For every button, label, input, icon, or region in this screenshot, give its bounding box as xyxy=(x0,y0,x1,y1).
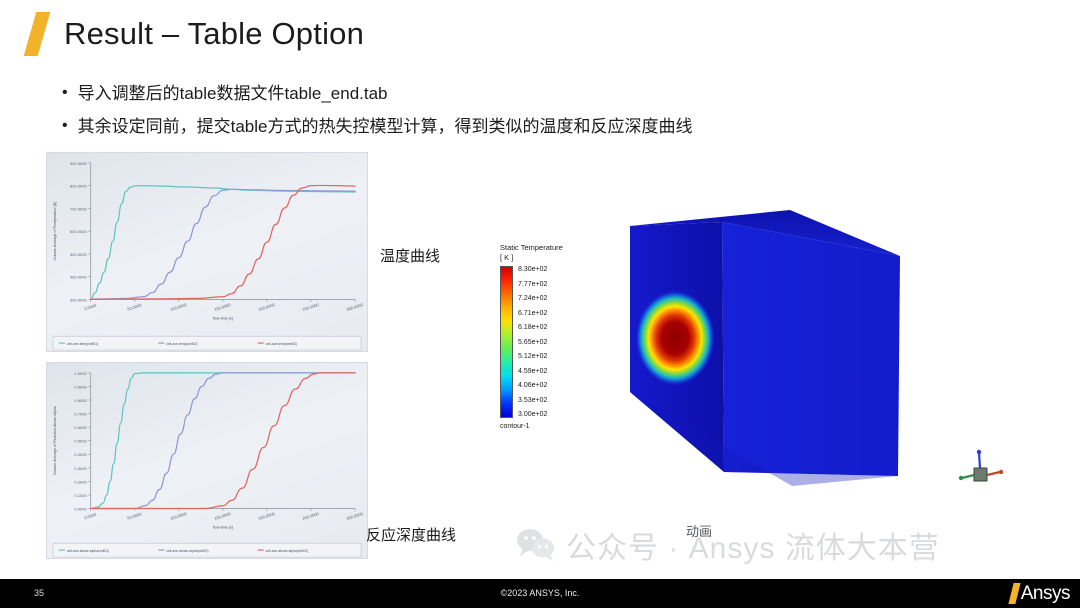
svg-text:100.0000: 100.0000 xyxy=(170,302,188,312)
watermark-overlay-label: 动画 xyxy=(686,521,712,540)
svg-text:400.0000: 400.0000 xyxy=(70,275,88,280)
svg-text:0.4000: 0.4000 xyxy=(74,452,87,457)
svg-text:0.0000: 0.0000 xyxy=(84,302,98,311)
bullet-marker-icon: • xyxy=(62,115,68,137)
svg-text:100.0000: 100.0000 xyxy=(170,511,188,521)
svg-text:flow-time [s]: flow-time [s] xyxy=(213,316,233,320)
svg-text:50.0000: 50.0000 xyxy=(127,511,143,520)
contour-tick-list: 8.30e+027.77e+027.24e+026.71e+026.18e+02… xyxy=(518,266,547,418)
svg-text:50.0000: 50.0000 xyxy=(127,302,143,311)
svg-text:0.9000: 0.9000 xyxy=(74,384,87,389)
svg-text:0.8000: 0.8000 xyxy=(74,398,87,403)
legend-entry-label: cell-ave-temp(cell02) xyxy=(166,342,197,346)
svg-text:0.3000: 0.3000 xyxy=(74,466,87,471)
axis-triad-icon xyxy=(958,448,1004,492)
ansys-logo-slash-icon xyxy=(1008,583,1020,604)
legend-entry-label: cell-ave-temp(cell03) xyxy=(266,342,297,346)
series-line xyxy=(91,186,355,299)
temperature-plot-canvas: 300.0000400.0000500.0000600.0000700.0000… xyxy=(47,153,367,351)
watermark: 公众号 · Ansys 流体大本营 xyxy=(516,523,940,567)
list-item: • 其余设定同前，提交table方式的热失控模型计算，得到类似的温度和反应深度曲… xyxy=(62,115,1022,138)
chart-temperature: 300.0000400.0000500.0000600.0000700.0000… xyxy=(46,152,368,352)
copyright-text: ©2023 ANSYS, Inc. xyxy=(0,588,1080,598)
svg-text:900.0000: 900.0000 xyxy=(70,161,88,166)
svg-text:1.0000: 1.0000 xyxy=(74,371,87,376)
svg-text:200.0000: 200.0000 xyxy=(258,302,276,312)
annotation-temperature-curve: 温度曲线 xyxy=(380,245,440,266)
slide-root: Result – Table Option • 导入调整后的table数据文件t… xyxy=(0,0,1080,608)
contour-legend-units: [ K ] xyxy=(500,253,592,263)
page-title: Result – Table Option xyxy=(30,12,364,56)
contour-tick-label: 8.30e+02 xyxy=(518,266,547,273)
svg-text:500.0000: 500.0000 xyxy=(70,252,88,257)
svg-text:Volume Average of Reaction Abu: Volume Average of Reaction Abuse Alpha xyxy=(53,405,57,475)
cube-front-face xyxy=(722,222,900,476)
bullet-list: • 导入调整后的table数据文件table_end.tab • 其余设定同前，… xyxy=(62,82,1022,148)
contour-tick-label: 4.59e+02 xyxy=(518,368,547,375)
series-line xyxy=(91,189,355,299)
ansys-logo-text: Ansys xyxy=(1021,583,1070,605)
svg-text:200.0000: 200.0000 xyxy=(258,511,276,521)
contour-legend: Static Temperature [ K ] 8.30e+027.77e+0… xyxy=(500,243,592,430)
svg-text:150.0000: 150.0000 xyxy=(214,511,232,521)
contour-tick-label: 6.18e+02 xyxy=(518,324,547,331)
svg-text:600.0000: 600.0000 xyxy=(70,229,88,234)
svg-text:0.5000: 0.5000 xyxy=(74,439,87,444)
contour-tick-label: 3.53e+02 xyxy=(518,397,547,404)
contour-tick-label: 7.24e+02 xyxy=(518,295,547,302)
list-item: • 导入调整后的table数据文件table_end.tab xyxy=(62,82,1022,105)
svg-text:0.0000: 0.0000 xyxy=(84,511,98,520)
title-accent-slash-icon xyxy=(24,12,51,56)
contour-tick-label: 6.71e+02 xyxy=(518,310,547,317)
contour-tick-label: 5.65e+02 xyxy=(518,339,547,346)
svg-text:300.0000: 300.0000 xyxy=(346,302,364,312)
series-line xyxy=(91,373,355,509)
svg-text:flow-time [s]: flow-time [s] xyxy=(213,525,233,529)
watermark-text: 公众号 · Ansys 流体大本营 xyxy=(566,523,940,567)
cube-svg xyxy=(604,186,934,506)
contour-colorbar xyxy=(500,266,513,418)
contour-tick-label: 4.06e+02 xyxy=(518,382,547,389)
bullet-text: 导入调整后的table数据文件table_end.tab xyxy=(78,82,388,105)
contour-legend-caption: contour-1 xyxy=(500,423,592,430)
contour-tick-label: 5.12e+02 xyxy=(518,353,547,360)
wechat-icon xyxy=(516,528,556,562)
contour-tick-label: 7.77e+02 xyxy=(518,281,547,288)
svg-text:0.0000: 0.0000 xyxy=(74,506,87,511)
svg-text:300.0000: 300.0000 xyxy=(346,511,364,521)
legend-entry-label: cell-ave-temp(cell01) xyxy=(67,342,98,346)
title-label: Result – Table Option xyxy=(64,16,364,52)
cube-hotspot xyxy=(635,290,715,386)
legend-entry-label: cell-ave-abuse-alpha(cell03) xyxy=(266,549,308,553)
bullet-marker-icon: • xyxy=(62,82,68,104)
bullet-text: 其余设定同前，提交table方式的热失控模型计算，得到类似的温度和反应深度曲线 xyxy=(78,115,693,138)
contour-tick-label: 3.00e+02 xyxy=(518,411,547,418)
svg-text:Volume Average of Temperature: Volume Average of Temperature [K] xyxy=(53,202,57,261)
series-line xyxy=(91,373,355,509)
svg-text:0.6000: 0.6000 xyxy=(74,425,87,430)
svg-text:300.0000: 300.0000 xyxy=(70,298,88,303)
contour-legend-title: Static Temperature xyxy=(500,243,592,253)
svg-text:800.0000: 800.0000 xyxy=(70,184,88,189)
svg-text:700.0000: 700.0000 xyxy=(70,206,88,211)
series-line xyxy=(91,185,355,299)
svg-text:150.0000: 150.0000 xyxy=(214,302,232,312)
chart-reaction-depth: 0.00000.10000.20000.30000.40000.50000.60… xyxy=(46,362,368,559)
cube-3d-view xyxy=(604,186,934,506)
legend-entry-label: cell-ave-abuse-alpha(cell02) xyxy=(166,549,208,553)
reaction-depth-plot-canvas: 0.00000.10000.20000.30000.40000.50000.60… xyxy=(47,363,367,558)
ansys-logo: Ansys xyxy=(1011,581,1070,606)
svg-text:0.1000: 0.1000 xyxy=(74,493,87,498)
svg-text:250.0000: 250.0000 xyxy=(302,511,320,521)
svg-text:0.2000: 0.2000 xyxy=(74,479,87,484)
annotation-reaction-depth-curve: 反应深度曲线 xyxy=(366,524,456,545)
slide-footer: 35 ©2023 ANSYS, Inc. Ansys xyxy=(0,579,1080,608)
legend-entry-label: cell-ave-abuse-alpha(cell01) xyxy=(67,549,109,553)
svg-text:250.0000: 250.0000 xyxy=(302,302,320,312)
svg-text:0.7000: 0.7000 xyxy=(74,412,87,417)
series-line xyxy=(91,373,355,509)
